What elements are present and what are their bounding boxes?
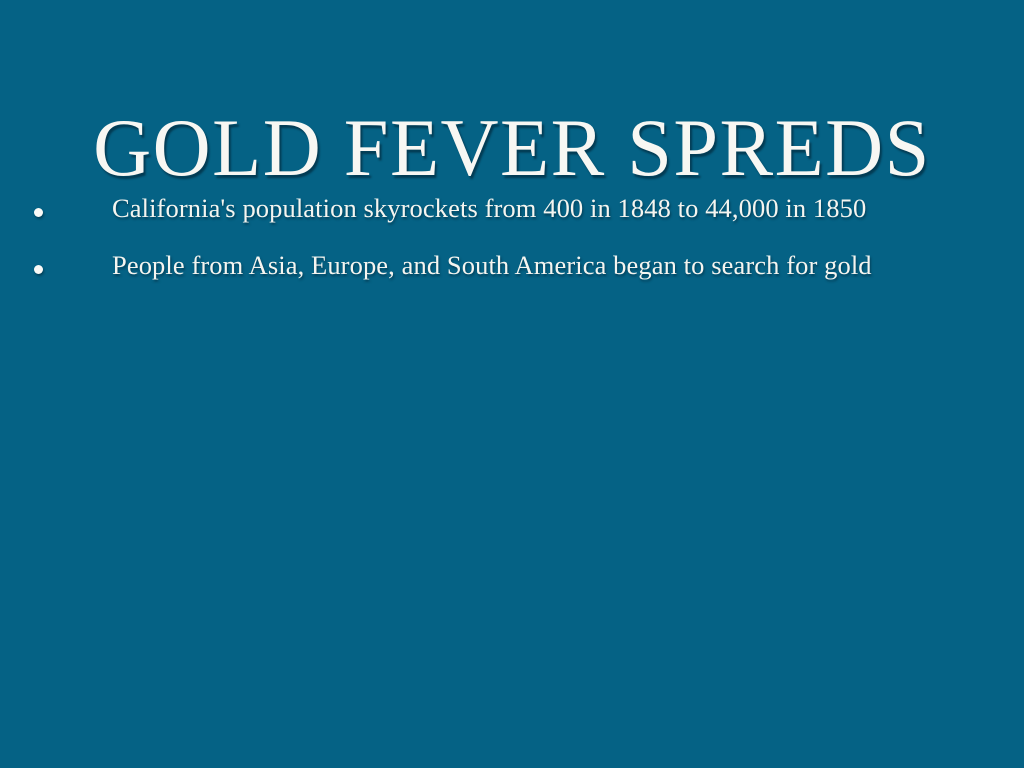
presentation-slide: GOLD FEVER SPREDS California's populatio… [0,0,1024,768]
bullet-dot-icon [34,265,43,274]
list-item: California's population skyrockets from … [0,190,1024,247]
bullet-dot-icon [34,208,43,217]
bullet-text: California's population skyrockets from … [112,190,866,226]
slide-title: GOLD FEVER SPREDS [10,107,1014,189]
bullet-text: People from Asia, Europe, and South Amer… [112,247,872,283]
list-item: People from Asia, Europe, and South Amer… [0,247,1024,304]
bullet-list: California's population skyrockets from … [0,190,1024,304]
